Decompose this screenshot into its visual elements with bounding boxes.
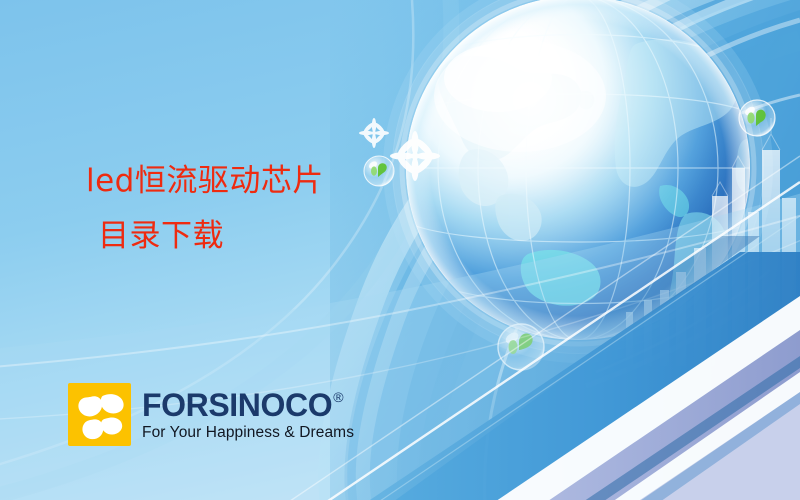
company-name: FORSINOCO®	[142, 389, 354, 421]
pinwheel-icon	[68, 383, 131, 446]
bubble-leaf-left	[364, 156, 394, 186]
headline: led恒流驱动芯片 目录下载	[86, 162, 324, 256]
forsinoco-pinwheel-mark	[68, 383, 131, 446]
headline-line-2: 目录下载	[86, 217, 324, 256]
bubble-leaf-right	[739, 100, 775, 136]
company-tagline: For Your Happiness & Dreams	[142, 424, 354, 442]
headline-line-1: led恒流驱动芯片	[86, 162, 324, 201]
logo-wordmark: FORSINOCO® For Your Happiness & Dreams	[142, 383, 354, 446]
registered-trademark-icon: ®	[333, 390, 343, 404]
hero-banner: led恒流驱动芯片 目录下载 FORSINOCO®	[0, 0, 800, 500]
company-logo[interactable]: FORSINOCO® For Your Happiness & Dreams	[68, 383, 354, 446]
company-name-text: FORSINOCO	[142, 389, 332, 421]
